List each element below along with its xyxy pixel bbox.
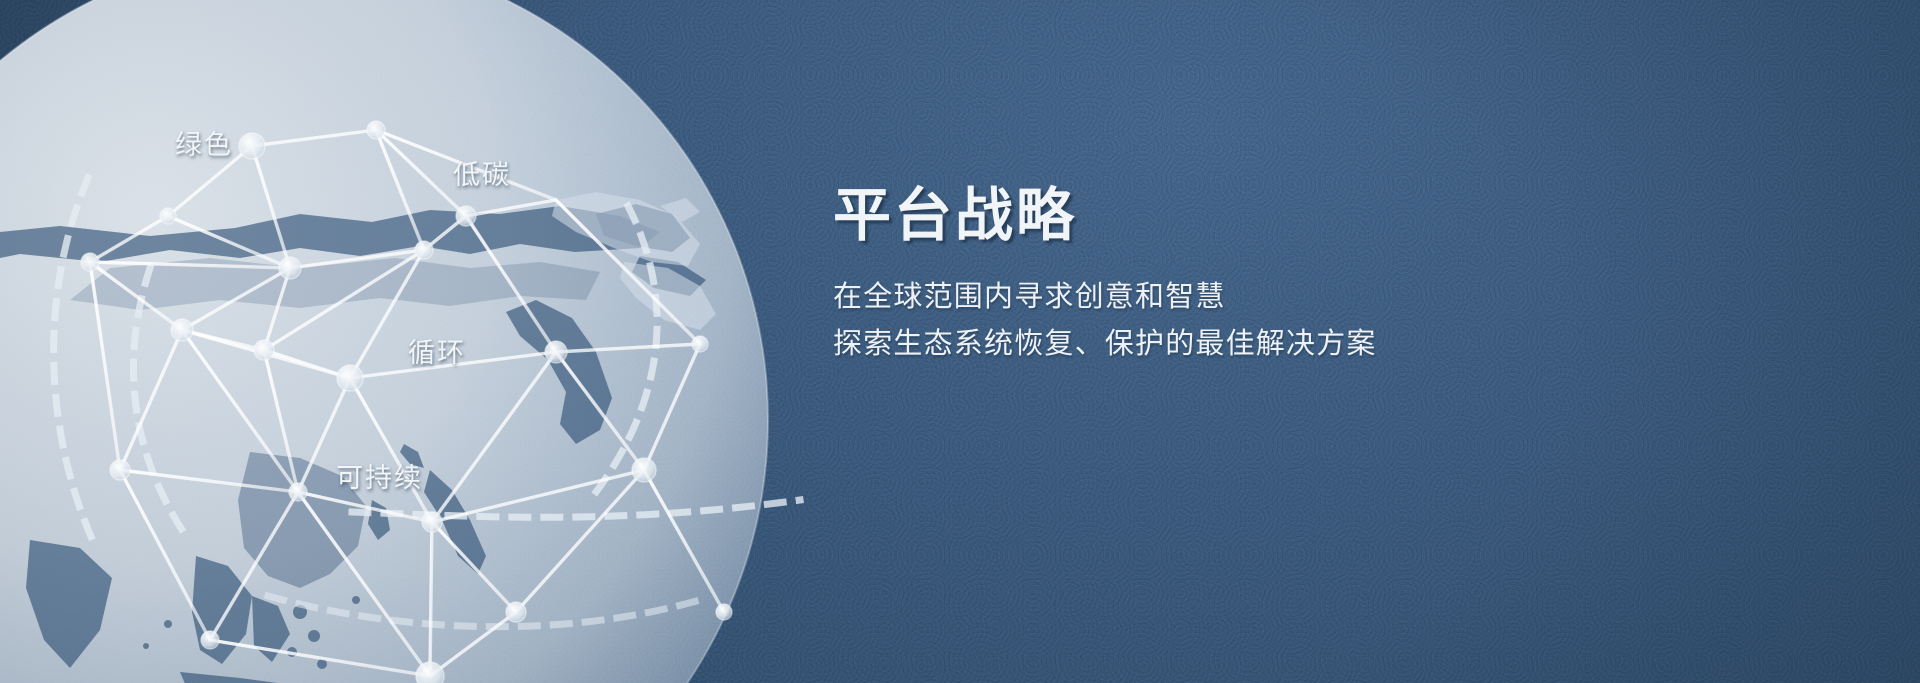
hero-subtitle-line-2: 探索生态系统恢复、保护的最佳解决方案 (833, 321, 1593, 368)
globe-label-green[interactable]: 绿色 (175, 123, 233, 162)
hero-headline: 平台战略 (833, 182, 1593, 250)
hero-banner: 绿色 低碳 循环 可持续 平台战略 在全球范围内寻求创意和智慧 探索生态系统恢复… (0, 0, 1920, 683)
hero-subtitle-group: 在全球范围内寻求创意和智慧 探索生态系统恢复、保护的最佳解决方案 (833, 274, 1593, 368)
globe-label-circular[interactable]: 循环 (408, 331, 466, 370)
globe-label-low-carbon[interactable]: 低碳 (453, 153, 511, 192)
globe-label-sustainable[interactable]: 可持续 (336, 456, 423, 495)
hero-subtitle-line-1: 在全球范围内寻求创意和智慧 (833, 274, 1593, 321)
hero-text-block: 平台战略 在全球范围内寻求创意和智慧 探索生态系统恢复、保护的最佳解决方案 (833, 182, 1593, 368)
